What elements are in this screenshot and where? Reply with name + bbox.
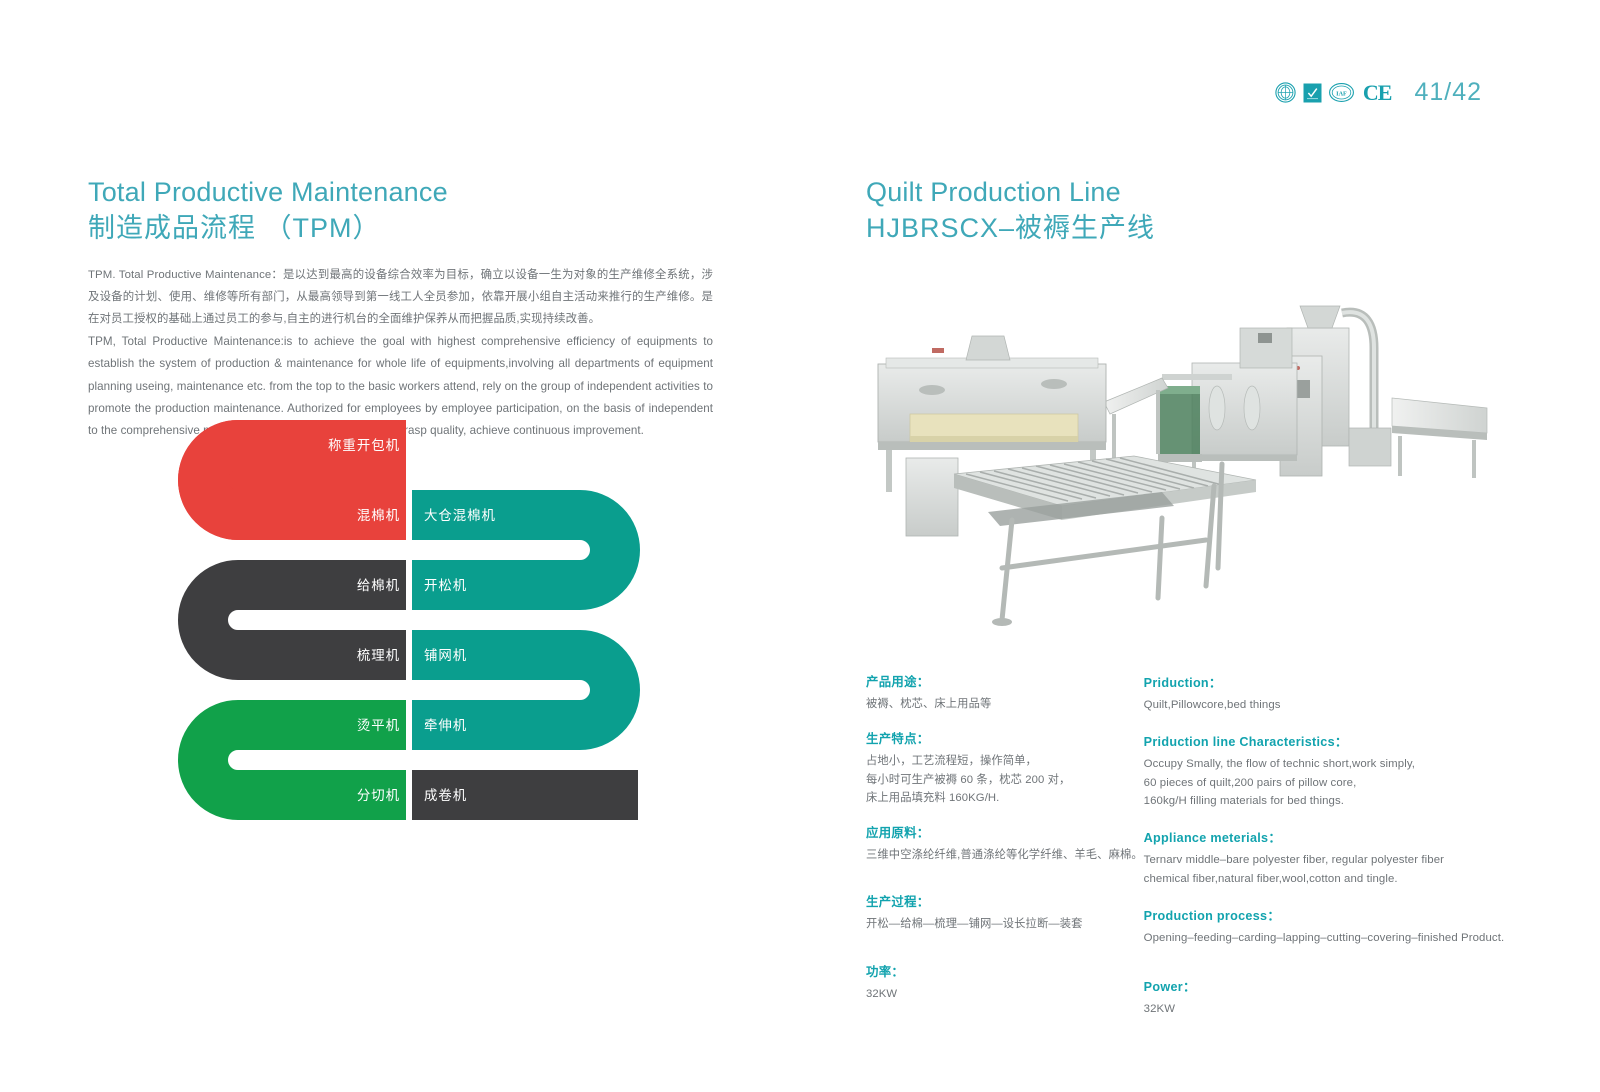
spec-group-cn-3: 生产过程： 开松—给棉—梳理—铺网—设长拉断—装套: [866, 892, 1144, 933]
header-certifications: IAF CE 41/42: [1275, 78, 1482, 107]
tpm-flow-diagram: 称重开包机 混棉机 大仓混棉机 开松机 给棉机 梳理机 铺网机 牵伸机 烫平机 …: [178, 420, 640, 982]
spec-heading: 功率：: [866, 962, 1144, 980]
brochure-page: IAF CE 41/42 Total Productive Maintenanc…: [0, 0, 1600, 1092]
spec-line: 床上用品填充料 160KG/H.: [866, 789, 1144, 807]
flow-label-9: 分切机: [357, 788, 400, 803]
right-title-en: Quilt Production Line: [866, 176, 1506, 209]
spec-heading: Priduction line Characteristics：: [1144, 731, 1506, 750]
left-column: Total Productive Maintenance 制造成品流程 （TPM…: [88, 176, 713, 442]
flow-label-4: 给棉机: [357, 578, 400, 593]
flow-label-5: 梳理机: [357, 648, 400, 663]
spec-heading: 生产特点：: [866, 729, 1144, 747]
flow-label-0: 称重开包机: [328, 438, 400, 453]
spec-line: 三维中空涤纶纤维,普通涤纶等化学纤维、羊毛、麻棉。: [866, 846, 1144, 864]
side-cabinet: [906, 458, 958, 536]
flow-label-3: 开松机: [424, 578, 467, 593]
flow-label-7: 牵伸机: [424, 718, 467, 733]
right-column: Quilt Production Line HJBRSCX–被褥生产线: [866, 176, 1506, 245]
left-body-cn: TPM. Total Productive Maintenance：是以达到最高…: [88, 265, 713, 331]
spec-line: 占地小，工艺流程短，操作简单，: [866, 752, 1144, 770]
quilt-production-line-photo: [862, 268, 1502, 630]
right-title-cn: HJBRSCX–被褥生产线: [866, 211, 1506, 246]
spec-group-en-1: Priduction line Characteristics： Occupy …: [1144, 731, 1506, 811]
spec-line: Opening–feeding–carding–lapping–cutting–…: [1144, 929, 1506, 948]
flow-label-10: 成卷机: [424, 788, 467, 803]
spec-line: Ternarv middle–bare polyester fiber, reg…: [1144, 851, 1506, 870]
spec-group-cn-0: 产品用途： 被褥、枕芯、床上用品等: [866, 672, 1144, 713]
spec-line: 60 pieces of quilt,200 pairs of pillow c…: [1144, 774, 1506, 793]
flow-label-2: 大仓混棉机: [424, 508, 496, 523]
spec-line: 32KW: [1144, 1000, 1506, 1019]
spec-heading: Production process：: [1144, 905, 1506, 924]
spec-group-cn-4: 功率： 32KW: [866, 962, 1144, 1003]
specs-chinese-column: 产品用途： 被褥、枕芯、床上用品等 生产特点： 占地小，工艺流程短，操作简单， …: [866, 672, 1144, 1035]
spec-heading: Priduction：: [1144, 672, 1506, 691]
oval-iaf-badge: IAF: [1329, 83, 1354, 102]
spec-line: chemical fiber,natural fiber,wool,cotton…: [1144, 870, 1506, 889]
specs-english-column: Priduction： Quilt,Pillowcore,bed things …: [1144, 672, 1506, 1035]
page-number: 41/42: [1414, 78, 1482, 107]
spec-line: 160kg/H filling materials for bed things…: [1144, 792, 1506, 811]
spec-line: 32KW: [866, 985, 1144, 1003]
left-title-en: Total Productive Maintenance: [88, 176, 713, 209]
spec-line: 开松—给棉—梳理—铺网—设长拉断—装套: [866, 915, 1144, 933]
iso-seal-badge: [1275, 82, 1296, 103]
spec-heading: Power：: [1144, 976, 1506, 995]
spec-heading: 应用原料：: [866, 823, 1144, 841]
spec-group-cn-2: 应用原料： 三维中空涤纶纤维,普通涤纶等化学纤维、羊毛、麻棉。: [866, 823, 1144, 864]
check-square-badge: [1303, 83, 1322, 103]
spec-heading: Appliance meterials：: [1144, 827, 1506, 846]
spec-line: 被褥、枕芯、床上用品等: [866, 695, 1144, 713]
spec-heading: 生产过程：: [866, 892, 1144, 910]
spec-group-en-2: Appliance meterials： Ternarv middle–bare…: [1144, 827, 1506, 889]
spec-group-en-4: Power： 32KW: [1144, 976, 1506, 1019]
spec-group-en-3: Production process： Opening–feeding–card…: [1144, 905, 1506, 948]
spec-line: Quilt,Pillowcore,bed things: [1144, 696, 1506, 715]
spec-group-cn-1: 生产特点： 占地小，工艺流程短，操作简单， 每小时可生产被褥 60 条，枕芯 2…: [866, 729, 1144, 807]
left-title-cn: 制造成品流程 （TPM）: [88, 211, 713, 246]
flow-label-1: 混棉机: [357, 508, 400, 523]
ce-mark: CE: [1363, 80, 1392, 106]
specification-block: 产品用途： 被褥、枕芯、床上用品等 生产特点： 占地小，工艺流程短，操作简单， …: [866, 672, 1506, 1035]
flow-label-6: 铺网机: [424, 648, 467, 663]
spec-line: 每小时可生产被褥 60 条，枕芯 200 对，: [866, 771, 1144, 789]
spec-group-en-0: Priduction： Quilt,Pillowcore,bed things: [1144, 672, 1506, 715]
spec-heading: 产品用途：: [866, 672, 1144, 690]
flow-label-8: 烫平机: [357, 718, 400, 733]
svg-text:IAF: IAF: [1336, 90, 1347, 97]
spec-line: Occupy Smally, the flow of technic short…: [1144, 755, 1506, 774]
